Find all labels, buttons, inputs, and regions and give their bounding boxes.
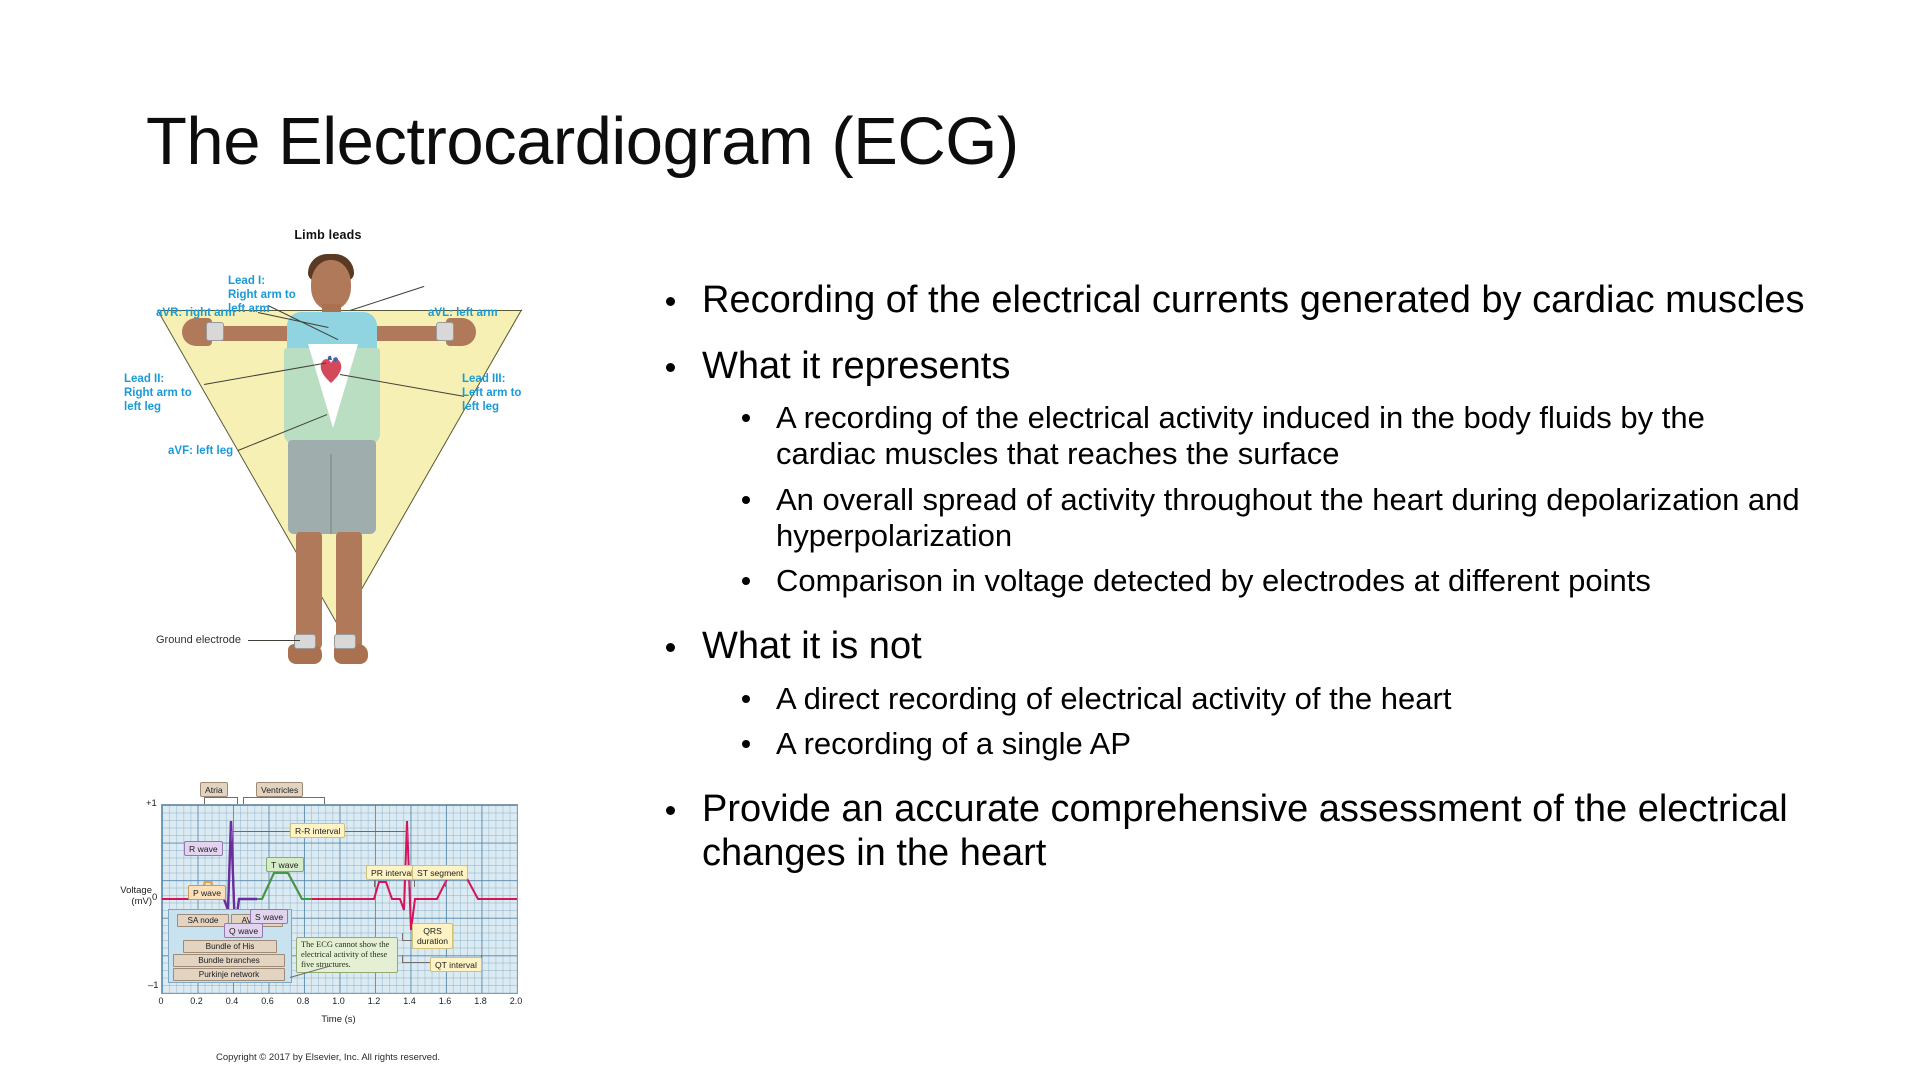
callout-st-segment: ST segment xyxy=(412,865,468,880)
bullet-dot-icon xyxy=(666,643,675,652)
callout-s-wave: S wave xyxy=(250,909,288,924)
brace-st-segment xyxy=(414,879,446,887)
x-tick-2: 0.4 xyxy=(226,996,239,1006)
bullet-dot-icon xyxy=(666,363,675,372)
label-lead-iii: Lead III:Left arm toleft leg xyxy=(462,372,521,414)
bullet-text: A direct recording of electrical activit… xyxy=(776,681,1451,716)
bullet-dot-icon xyxy=(742,695,750,703)
y-axis-title: Voltage(mV) xyxy=(86,886,152,908)
bullet-text: What it represents xyxy=(702,345,1010,387)
bullet-item: Provide an accurate comprehensive assess… xyxy=(660,787,1806,875)
patient-illustration xyxy=(118,248,538,748)
bullet-text: A recording of the electrical activity i… xyxy=(776,400,1705,471)
rr-tick-left xyxy=(231,831,232,841)
x-tick-10: 2.0 xyxy=(510,996,523,1006)
x-tick-6: 1.2 xyxy=(368,996,381,1006)
x-tick-9: 1.8 xyxy=(474,996,487,1006)
bullet-item: An overall spread of activity throughout… xyxy=(732,482,1806,555)
x-tick-7: 1.4 xyxy=(403,996,416,1006)
bullet-text: Provide an accurate comprehensive assess… xyxy=(702,788,1788,874)
x-tick-5: 1.0 xyxy=(332,996,345,1006)
heart-icon xyxy=(318,354,344,384)
electrode-right-wrist xyxy=(206,322,224,341)
callout-atria: Atria xyxy=(200,782,228,797)
limb-leads-illustration: Lead I:Right arm toleft arm aVR: right a… xyxy=(118,248,538,748)
bullet-dot-icon xyxy=(666,297,675,306)
bullet-item: Comparison in voltage detected by electr… xyxy=(732,563,1806,599)
label-lead-i: Lead I:Right arm toleft arm xyxy=(228,274,296,316)
x-tick-0: 0 xyxy=(158,996,163,1006)
bullet-dot-icon xyxy=(742,414,750,422)
electrode-left-wrist xyxy=(436,322,454,341)
left-leg-shape xyxy=(336,532,362,650)
bullet-item: A recording of a single AP xyxy=(732,726,1806,762)
ecg-plot-area: SA node AV node Bundle of His Bundle bra… xyxy=(161,804,518,994)
x-tick-4: 0.8 xyxy=(297,996,310,1006)
callout-ventricles: Ventricles xyxy=(256,782,303,797)
struct-sa-node: SA node xyxy=(177,914,229,927)
x-axis-ticks: 0 0.2 0.4 0.6 0.8 1.0 1.2 1.4 1.6 1.8 2.… xyxy=(161,996,516,1008)
bullet-dot-icon xyxy=(742,740,750,748)
x-tick-1: 0.2 xyxy=(190,996,203,1006)
bullet-text: A recording of a single AP xyxy=(776,726,1131,761)
bullet-dot-icon xyxy=(666,806,675,815)
label-avf: aVF: left leg xyxy=(168,444,233,458)
bullet-text: Recording of the electrical currents gen… xyxy=(702,279,1805,321)
head-shape xyxy=(311,260,351,310)
callout-qrs-duration: QRSduration xyxy=(412,923,453,949)
copyright-notice: Copyright © 2017 by Elsevier, Inc. All r… xyxy=(128,1052,528,1063)
rr-tick-right xyxy=(407,831,408,841)
callout-rr-interval: R-R interval xyxy=(290,823,345,838)
electrode-left-ankle xyxy=(334,634,356,649)
leader-ground xyxy=(248,640,300,641)
callout-pr-interval: PR interval xyxy=(366,865,418,880)
shorts-seam xyxy=(330,454,332,534)
slide-canvas: The Electrocardiogram (ECG) Limb leads xyxy=(0,0,1920,1080)
label-ground-electrode: Ground electrode xyxy=(156,634,241,647)
callout-qt-interval: QT interval xyxy=(430,957,482,972)
callout-structures-note: The ECG cannot show the electrical activ… xyxy=(296,937,398,973)
limb-leads-figure: Limb leads xyxy=(118,228,538,748)
label-avr: aVR: right arm xyxy=(156,306,235,320)
bullet-dot-icon xyxy=(742,496,750,504)
electrode-right-ankle xyxy=(294,634,316,649)
bullet-text: An overall spread of activity throughout… xyxy=(776,482,1800,553)
bullet-item: What it represents xyxy=(660,344,1806,388)
callout-q-wave: Q wave xyxy=(224,923,263,938)
bullet-dot-icon xyxy=(742,577,750,585)
callout-p-wave: P wave xyxy=(188,885,226,900)
shorts-shape xyxy=(288,440,376,534)
bullet-item: A recording of the electrical activity i… xyxy=(732,400,1806,473)
y-tick-minus-one: –1 xyxy=(148,980,159,991)
x-tick-8: 1.6 xyxy=(439,996,452,1006)
y-tick-plus-one: +1 xyxy=(146,798,157,809)
struct-bundle-branches: Bundle branches xyxy=(173,954,285,967)
label-lead-ii: Lead II:Right arm toleft leg xyxy=(124,372,192,414)
callout-t-wave: T wave xyxy=(266,857,304,872)
bullet-item: Recording of the electrical currents gen… xyxy=(660,278,1806,322)
x-tick-3: 0.6 xyxy=(261,996,274,1006)
bullet-item: A direct recording of electrical activit… xyxy=(732,681,1806,717)
body-text-column: Recording of the electrical currents gen… xyxy=(660,278,1806,887)
x-axis-title: Time (s) xyxy=(161,1014,516,1025)
ecg-trace-figure: Atria Ventricles xyxy=(128,782,528,1032)
limb-leads-title: Limb leads xyxy=(118,228,538,242)
bullet-text: What it is not xyxy=(702,625,922,667)
bullet-item: What it is not xyxy=(660,624,1806,668)
brace-pr-interval xyxy=(374,879,410,887)
y-tick-zero: 0 xyxy=(152,892,157,903)
label-avl: aVL: left arm xyxy=(428,306,498,320)
struct-purkinje-network: Purkinje network xyxy=(173,968,285,981)
page-title: The Electrocardiogram (ECG) xyxy=(146,106,1646,177)
callout-r-wave: R wave xyxy=(184,841,223,856)
struct-bundle-of-his: Bundle of His xyxy=(183,940,277,953)
bullet-text: Comparison in voltage detected by electr… xyxy=(776,563,1651,598)
right-leg-shape xyxy=(296,532,322,650)
